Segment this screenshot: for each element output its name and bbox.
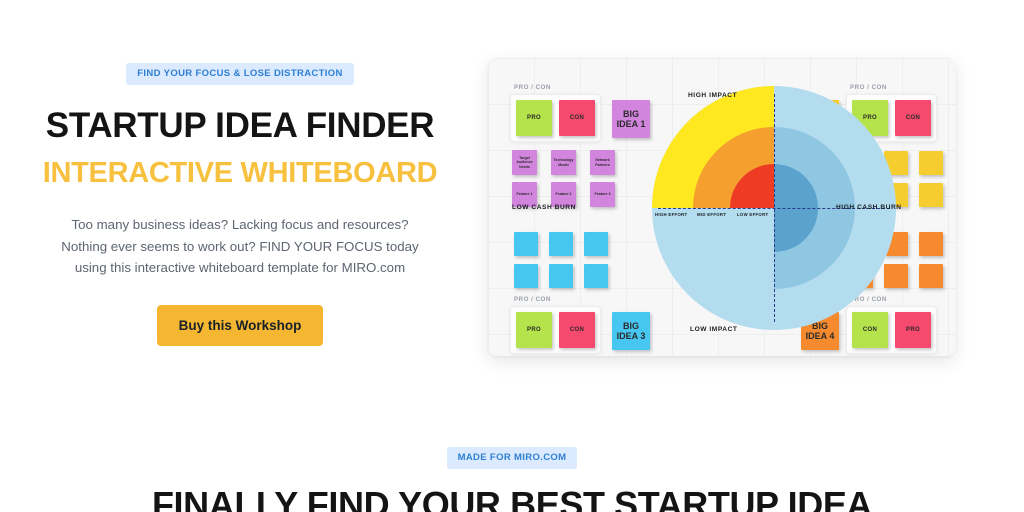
pro-con-label-bottom-left: PRO / CON — [514, 296, 551, 303]
axis-label-low-cash-burn: LOW CASH BURN — [512, 204, 576, 211]
buy-workshop-button[interactable]: Buy this Workshop — [157, 305, 324, 346]
hero-paragraph: Too many business ideas? Lacking focus a… — [25, 214, 455, 279]
bottom-section: MADE FOR MIRO.COM FINALLY FIND YOUR BEST… — [0, 420, 1024, 512]
note-tl-3[interactable]: Network Partners — [590, 150, 615, 175]
note-pro-bottom-right[interactable]: PRO — [895, 312, 931, 348]
note-br-3[interactable] — [919, 232, 943, 256]
note-con-top-left[interactable]: CON — [559, 100, 595, 136]
hero-section: FIND YOUR FOCUS & LOSE DISTRACTION START… — [0, 0, 480, 420]
axis-label-high-cash-burn: HIGH CASH BURN — [836, 204, 902, 211]
note-bl-5[interactable] — [549, 264, 573, 288]
note-pro-bottom-left[interactable]: PRO — [516, 312, 552, 348]
note-tl-2[interactable]: Technology Model — [551, 150, 576, 175]
page-title: STARTUP IDEA FINDER — [46, 108, 434, 143]
note-br-6[interactable] — [919, 264, 943, 288]
note-big-idea-1[interactable]: BIG IDEA 1 — [612, 100, 650, 138]
note-tr-6[interactable] — [919, 183, 943, 207]
effort-label-high: HIGH EFFORT — [655, 212, 687, 217]
note-bl-3[interactable] — [584, 232, 608, 256]
landing-page: FIND YOUR FOCUS & LOSE DISTRACTION START… — [0, 0, 1024, 512]
effort-label-mid: MID EFFORT — [697, 212, 726, 217]
note-tr-3[interactable] — [919, 151, 943, 175]
page-subtitle: INTERACTIVE WHITEBOARD — [43, 159, 438, 188]
whiteboard-preview[interactable]: PRO / CON PRO CON BIG IDEA 1 Target Audi… — [488, 58, 956, 356]
made-for-miro-badge: MADE FOR MIRO.COM — [447, 447, 578, 469]
pro-con-label-top-left: PRO / CON — [514, 84, 551, 91]
axis-label-low-impact: LOW IMPACT — [690, 326, 738, 333]
note-tl-6[interactable]: Feature 3 — [590, 182, 615, 207]
hero-paragraph-line-1: Too many business ideas? Lacking focus a… — [25, 214, 455, 236]
effort-label-low: LOW EFFORT — [737, 212, 768, 217]
note-pro-top-left[interactable]: PRO — [516, 100, 552, 136]
hero-paragraph-line-3: using this interactive whiteboard templa… — [25, 257, 455, 279]
note-bl-1[interactable] — [514, 232, 538, 256]
quarter-low-effort-high-impact — [730, 164, 774, 208]
hero-paragraph-line-2: Nothing ever seems to work out? FIND YOU… — [25, 236, 455, 258]
hero-badge: FIND YOUR FOCUS & LOSE DISTRACTION — [126, 63, 353, 85]
note-bl-2[interactable] — [549, 232, 573, 256]
note-con-bottom-left[interactable]: CON — [559, 312, 595, 348]
note-con-top-right[interactable]: CON — [895, 100, 931, 136]
note-tl-1[interactable]: Target Audience Needs — [512, 150, 537, 175]
note-big-idea-3[interactable]: BIG IDEA 3 — [612, 312, 650, 350]
note-bl-4[interactable] — [514, 264, 538, 288]
bottom-heading: FINALLY FIND YOUR BEST STARTUP IDEA — [152, 487, 872, 512]
note-bl-6[interactable] — [584, 264, 608, 288]
axis-label-high-impact: HIGH IMPACT — [688, 92, 737, 99]
